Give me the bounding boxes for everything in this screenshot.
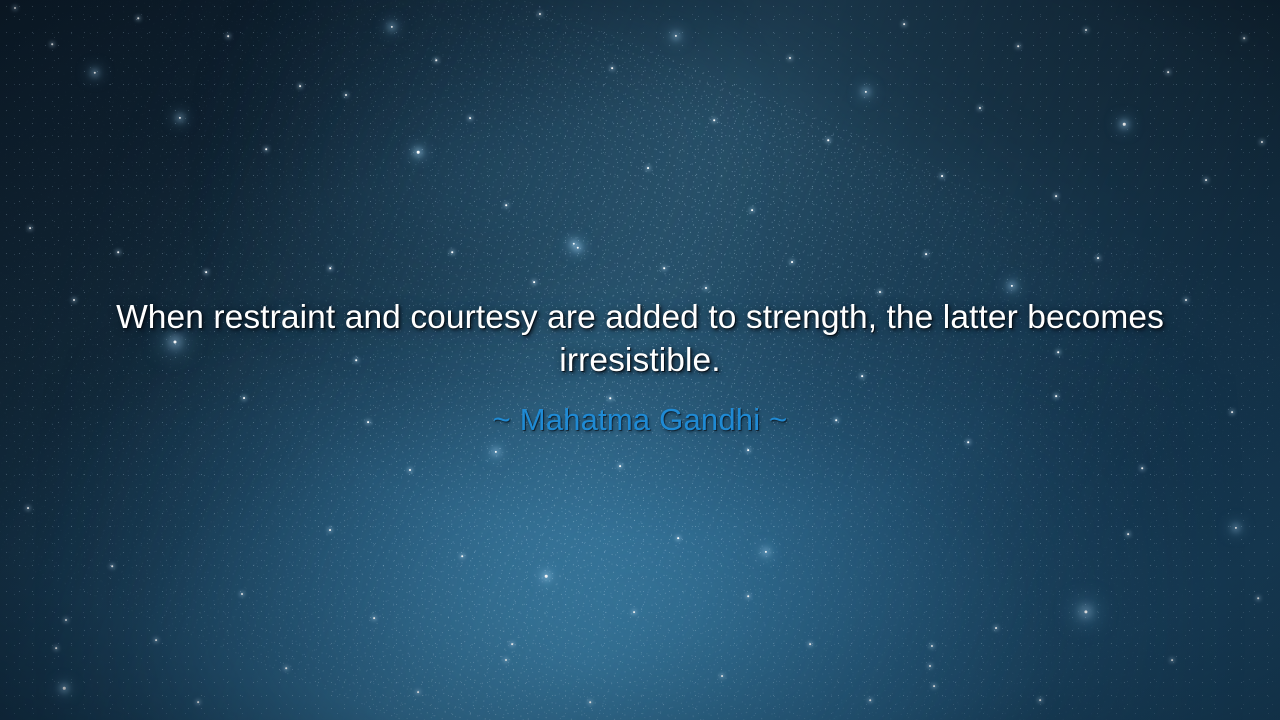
quote-text: When restraint and courtesy are added to… — [90, 296, 1190, 382]
quote-slide: When restraint and courtesy are added to… — [0, 0, 1280, 720]
quote-attribution: ~ Mahatma Gandhi ~ — [90, 401, 1190, 439]
quote-block: When restraint and courtesy are added to… — [90, 296, 1190, 439]
